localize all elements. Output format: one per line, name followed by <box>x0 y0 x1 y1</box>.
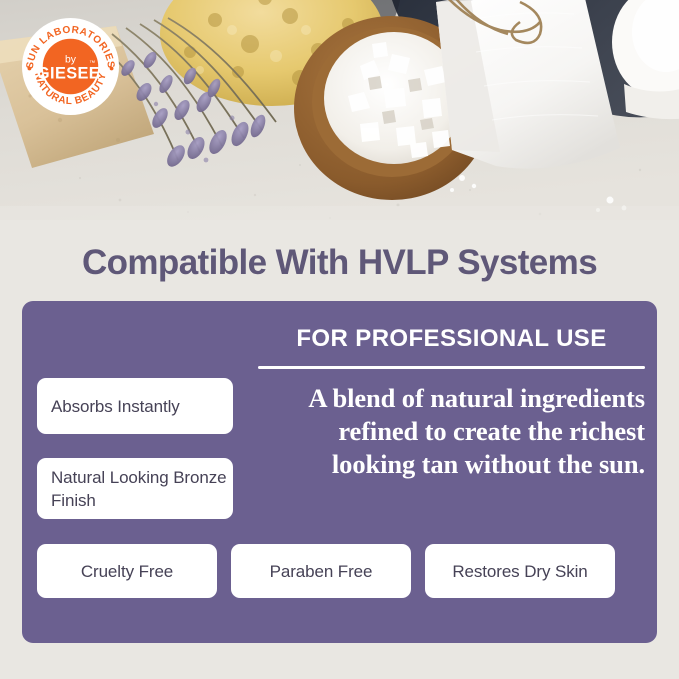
logo-center-brand: GIESEE <box>37 64 100 82</box>
page-title: Compatible With HVLP Systems <box>0 243 679 283</box>
product-description: A blend of natural ingredients refined t… <box>258 382 645 481</box>
feature-card-paraben-free: Paraben Free <box>231 544 411 598</box>
professional-use-title: FOR PROFESSIONAL USE <box>258 325 645 353</box>
logo-trademark-symbol: ™ <box>89 60 95 67</box>
feature-label: Paraben Free <box>270 560 373 583</box>
feature-label: Restores Dry Skin <box>452 560 587 583</box>
feature-card-absorbs-instantly: Absorbs Instantly <box>37 378 233 434</box>
feature-card-cruelty-free: Cruelty Free <box>37 544 217 598</box>
feature-card-restores-dry-skin: Restores Dry Skin <box>425 544 615 598</box>
sun-laboratories-logo-badge: SUN LABORATORIES NATURAL BEAUTY by GIESE… <box>21 17 120 116</box>
title-divider <box>258 366 645 369</box>
feature-card-natural-looking-bronze-finish: Natural Looking Bronze Finish <box>37 458 233 519</box>
product-infographic: SUN LABORATORIES NATURAL BEAUTY by GIESE… <box>0 0 679 679</box>
feature-label: Natural Looking Bronze Finish <box>51 466 233 512</box>
feature-label: Cruelty Free <box>81 560 173 583</box>
feature-label: Absorbs Instantly <box>51 395 180 418</box>
